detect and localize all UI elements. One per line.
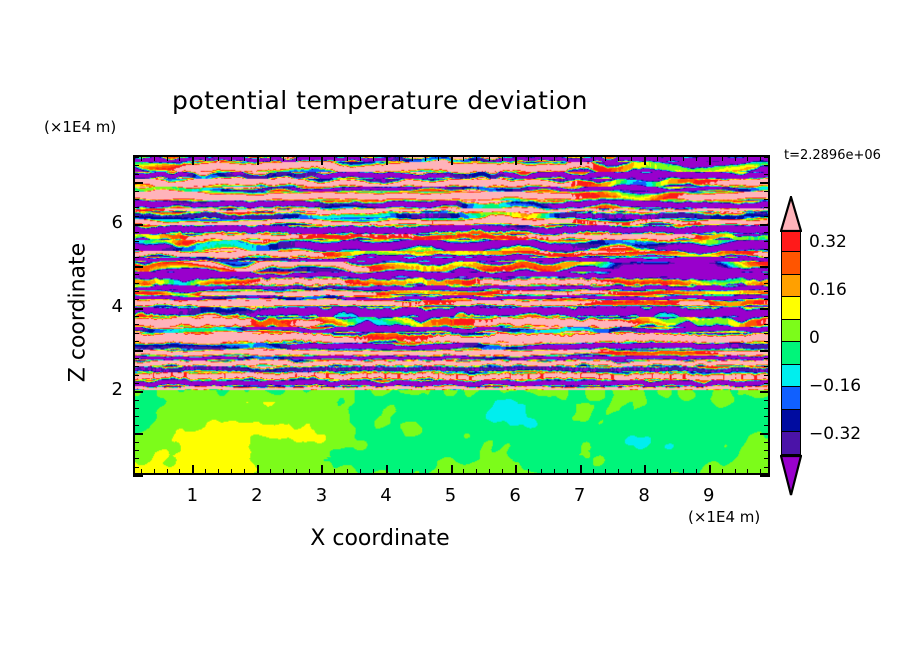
- y-axis-minor-tick: [764, 174, 770, 175]
- x-axis-minor-tick: [747, 469, 748, 475]
- x-axis-minor-tick: [463, 469, 464, 475]
- y-axis-minor-tick: [133, 450, 139, 451]
- y-axis-minor-tick: [764, 199, 770, 200]
- x-axis-minor-tick: [179, 469, 180, 475]
- y-axis-tick-label: 2: [83, 379, 123, 400]
- contour-plot-area: [133, 155, 770, 475]
- x-axis-major-tick: [709, 155, 711, 165]
- y-axis-minor-tick: [133, 467, 139, 468]
- y-axis-minor-tick: [133, 191, 139, 192]
- y-axis-minor-tick: [764, 299, 770, 300]
- x-axis-minor-tick: [631, 469, 632, 475]
- x-axis-major-tick: [321, 465, 323, 475]
- x-axis-major-tick: [192, 465, 194, 475]
- y-axis-major-tick: [760, 350, 770, 352]
- x-axis-major-tick: [321, 155, 323, 165]
- x-axis-minor-tick: [541, 469, 542, 475]
- y-axis-minor-tick: [133, 232, 139, 233]
- y-axis-minor-tick: [764, 165, 770, 166]
- y-axis-minor-tick: [133, 174, 139, 175]
- x-axis-minor-tick: [270, 469, 271, 475]
- x-axis-minor-tick: [399, 469, 400, 475]
- time-annotation: t=2.2896e+06: [784, 148, 881, 163]
- y-axis-major-tick: [133, 224, 143, 226]
- x-axis-major-tick: [709, 465, 711, 475]
- y-axis-minor-tick: [764, 157, 770, 158]
- x-axis-minor-tick: [167, 155, 168, 161]
- colorbar-band: [781, 296, 801, 320]
- x-axis-minor-tick: [541, 155, 542, 161]
- y-axis-minor-tick: [764, 249, 770, 250]
- x-axis-major-tick: [386, 465, 388, 475]
- x-axis-minor-tick: [373, 469, 374, 475]
- x-axis-minor-tick: [347, 469, 348, 475]
- x-axis-minor-tick: [735, 469, 736, 475]
- y-axis-minor-tick: [764, 341, 770, 342]
- x-axis-tick-label: 8: [624, 485, 664, 506]
- y-axis-minor-tick: [133, 165, 139, 166]
- y-axis-minor-tick: [764, 366, 770, 367]
- colorbar-band: [781, 319, 801, 343]
- y-axis-minor-tick: [764, 333, 770, 334]
- x-axis-minor-tick: [722, 469, 723, 475]
- x-axis-major-tick: [192, 155, 194, 165]
- x-axis-minor-tick: [412, 155, 413, 161]
- y-axis-minor-tick: [764, 283, 770, 284]
- x-axis-minor-tick: [296, 469, 297, 475]
- x-axis-major-tick: [644, 155, 646, 165]
- x-axis-minor-tick: [502, 469, 503, 475]
- x-axis-minor-tick: [231, 155, 232, 161]
- y-axis-minor-tick: [133, 157, 139, 158]
- colorbar-tick-label: −0.16: [809, 376, 861, 396]
- y-axis-major-tick: [760, 391, 770, 393]
- x-axis-minor-tick: [605, 155, 606, 161]
- x-axis-minor-tick: [528, 469, 529, 475]
- y-axis-minor-tick: [764, 442, 770, 443]
- y-axis-major-tick: [760, 182, 770, 184]
- x-axis-minor-tick: [283, 469, 284, 475]
- y-axis-minor-tick: [133, 299, 139, 300]
- y-axis-minor-tick: [764, 274, 770, 275]
- x-axis-tick-label: 5: [431, 485, 471, 506]
- y-axis-major-tick: [133, 391, 143, 393]
- y-axis-minor-tick: [764, 257, 770, 258]
- y-axis-minor-tick: [133, 333, 139, 334]
- page-title: potential temperature deviation: [0, 86, 760, 115]
- y-axis-minor-tick: [133, 324, 139, 325]
- x-axis-minor-tick: [528, 155, 529, 161]
- y-axis-major-tick: [760, 475, 770, 477]
- colorbar-tick-label: 0.16: [809, 280, 847, 300]
- x-axis-minor-tick: [567, 155, 568, 161]
- x-axis-title: X coordinate: [0, 526, 760, 551]
- x-axis-minor-tick: [747, 155, 748, 161]
- y-axis-major-tick: [760, 308, 770, 310]
- x-axis-minor-tick: [412, 469, 413, 475]
- y-axis-major-tick: [133, 266, 143, 268]
- x-axis-minor-tick: [296, 155, 297, 161]
- colorbar-tick-label: 0.32: [809, 232, 847, 252]
- y-axis-minor-tick: [764, 316, 770, 317]
- x-axis-minor-tick: [554, 469, 555, 475]
- x-axis-minor-tick: [218, 155, 219, 161]
- x-axis-minor-tick: [205, 469, 206, 475]
- scalar-field-render: [135, 157, 768, 473]
- y-axis-minor-tick: [764, 241, 770, 242]
- x-axis-minor-tick: [438, 155, 439, 161]
- x-axis-minor-tick: [360, 155, 361, 161]
- x-axis-tick-label: 7: [560, 485, 600, 506]
- x-axis-minor-tick: [167, 469, 168, 475]
- y-axis-minor-tick: [133, 375, 139, 376]
- colorbar-over-arrow: [781, 196, 801, 230]
- colorbar-band: [781, 386, 801, 410]
- y-axis-minor-tick: [764, 383, 770, 384]
- x-axis-minor-tick: [231, 469, 232, 475]
- x-axis-minor-tick: [244, 155, 245, 161]
- y-axis-major-tick: [760, 266, 770, 268]
- x-axis-minor-tick: [683, 155, 684, 161]
- y-axis-minor-tick: [764, 207, 770, 208]
- x-axis-minor-tick: [270, 155, 271, 161]
- x-axis-tick-label: 1: [172, 485, 212, 506]
- x-axis-minor-tick: [567, 469, 568, 475]
- y-axis-minor-tick: [764, 191, 770, 192]
- x-axis-minor-tick: [618, 155, 619, 161]
- x-axis-minor-tick: [154, 469, 155, 475]
- x-axis-minor-tick: [205, 155, 206, 161]
- x-axis-minor-tick: [554, 155, 555, 161]
- y-axis-major-tick: [133, 182, 143, 184]
- x-axis-minor-tick: [154, 155, 155, 161]
- colorbar-tick-label: −0.32: [809, 424, 861, 444]
- x-axis-minor-tick: [399, 155, 400, 161]
- y-axis-major-tick: [133, 475, 143, 477]
- x-axis-minor-tick: [722, 155, 723, 161]
- colorbar-tick-label: 0: [809, 328, 820, 348]
- x-axis-minor-tick: [696, 155, 697, 161]
- y-axis-major-tick: [133, 433, 143, 435]
- y-axis-tick-label: 6: [83, 212, 123, 233]
- x-axis-minor-tick: [683, 469, 684, 475]
- x-axis-minor-tick: [605, 469, 606, 475]
- y-axis-minor-tick: [133, 358, 139, 359]
- y-axis-unit-label: (×1E4 m): [44, 118, 116, 136]
- x-axis-minor-tick: [502, 155, 503, 161]
- x-axis-minor-tick: [696, 469, 697, 475]
- y-axis-minor-tick: [764, 375, 770, 376]
- colorbar-band: [781, 409, 801, 433]
- x-axis-minor-tick: [657, 469, 658, 475]
- x-axis-minor-tick: [476, 469, 477, 475]
- x-axis-tick-label: 2: [237, 485, 277, 506]
- y-axis-minor-tick: [133, 249, 139, 250]
- y-axis-tick-label: 4: [83, 296, 123, 317]
- y-axis-minor-tick: [764, 291, 770, 292]
- y-axis-minor-tick: [133, 383, 139, 384]
- x-axis-tick-label: 4: [366, 485, 406, 506]
- x-axis-minor-tick: [593, 469, 594, 475]
- x-axis-minor-tick: [309, 155, 310, 161]
- y-axis-minor-tick: [764, 450, 770, 451]
- y-axis-minor-tick: [133, 416, 139, 417]
- x-axis-major-tick: [451, 465, 453, 475]
- y-axis-minor-tick: [133, 216, 139, 217]
- y-axis-minor-tick: [133, 291, 139, 292]
- x-axis-major-tick: [644, 465, 646, 475]
- x-axis-minor-tick: [618, 469, 619, 475]
- x-axis-minor-tick: [141, 155, 142, 161]
- x-axis-minor-tick: [476, 155, 477, 161]
- x-axis-minor-tick: [244, 469, 245, 475]
- colorbar-band: [781, 364, 801, 388]
- y-axis-minor-tick: [133, 199, 139, 200]
- colorbar-band: [781, 431, 801, 455]
- y-axis-minor-tick: [133, 408, 139, 409]
- x-axis-minor-tick: [489, 155, 490, 161]
- x-axis-tick-label: 6: [495, 485, 535, 506]
- y-axis-major-tick: [760, 433, 770, 435]
- x-axis-minor-tick: [657, 155, 658, 161]
- x-axis-minor-tick: [463, 155, 464, 161]
- x-axis-minor-tick: [334, 469, 335, 475]
- y-axis-minor-tick: [133, 341, 139, 342]
- x-axis-minor-tick: [438, 469, 439, 475]
- x-axis-minor-tick: [179, 155, 180, 161]
- y-axis-minor-tick: [764, 425, 770, 426]
- x-axis-major-tick: [257, 465, 259, 475]
- y-axis-major-tick: [133, 350, 143, 352]
- x-axis-minor-tick: [593, 155, 594, 161]
- colorbar-band: [781, 341, 801, 365]
- y-axis-minor-tick: [764, 408, 770, 409]
- y-axis-minor-tick: [764, 416, 770, 417]
- y-axis-minor-tick: [764, 458, 770, 459]
- x-axis-minor-tick: [218, 469, 219, 475]
- x-axis-minor-tick: [334, 155, 335, 161]
- y-axis-major-tick: [133, 308, 143, 310]
- colorbar-band: [781, 274, 801, 298]
- y-axis-minor-tick: [764, 400, 770, 401]
- x-axis-minor-tick: [425, 155, 426, 161]
- x-axis-minor-tick: [631, 155, 632, 161]
- y-axis-minor-tick: [133, 241, 139, 242]
- colorbar-band: [781, 229, 801, 253]
- x-axis-unit-label: (×1E4 m): [688, 508, 760, 526]
- y-axis-minor-tick: [133, 316, 139, 317]
- y-axis-minor-tick: [133, 207, 139, 208]
- y-axis-minor-tick: [764, 467, 770, 468]
- y-axis-minor-tick: [133, 257, 139, 258]
- x-axis-major-tick: [580, 465, 582, 475]
- y-axis-minor-tick: [133, 425, 139, 426]
- y-axis-minor-tick: [133, 400, 139, 401]
- x-axis-minor-tick: [670, 469, 671, 475]
- x-axis-tick-label: 9: [689, 485, 729, 506]
- x-axis-minor-tick: [283, 155, 284, 161]
- x-axis-minor-tick: [347, 155, 348, 161]
- x-axis-major-tick: [451, 155, 453, 165]
- y-axis-minor-tick: [764, 324, 770, 325]
- x-axis-major-tick: [515, 465, 517, 475]
- x-axis-major-tick: [257, 155, 259, 165]
- y-axis-major-tick: [760, 224, 770, 226]
- x-axis-minor-tick: [489, 469, 490, 475]
- x-axis-tick-label: 3: [301, 485, 341, 506]
- x-axis-minor-tick: [309, 469, 310, 475]
- x-axis-minor-tick: [670, 155, 671, 161]
- field-canvas: [135, 157, 768, 473]
- y-axis-minor-tick: [133, 274, 139, 275]
- x-axis-major-tick: [386, 155, 388, 165]
- y-axis-minor-tick: [764, 232, 770, 233]
- x-axis-minor-tick: [373, 155, 374, 161]
- y-axis-minor-tick: [133, 458, 139, 459]
- y-axis-minor-tick: [133, 366, 139, 367]
- x-axis-minor-tick: [425, 469, 426, 475]
- y-axis-minor-tick: [764, 216, 770, 217]
- x-axis-minor-tick: [735, 155, 736, 161]
- colorbar: 0.320.160−0.16−0.32: [781, 196, 801, 494]
- x-axis-major-tick: [515, 155, 517, 165]
- y-axis-minor-tick: [764, 358, 770, 359]
- colorbar-band: [781, 251, 801, 275]
- x-axis-minor-tick: [760, 155, 761, 161]
- x-axis-major-tick: [580, 155, 582, 165]
- x-axis-minor-tick: [360, 469, 361, 475]
- y-axis-minor-tick: [133, 442, 139, 443]
- y-axis-minor-tick: [133, 283, 139, 284]
- colorbar-under-arrow: [781, 454, 801, 494]
